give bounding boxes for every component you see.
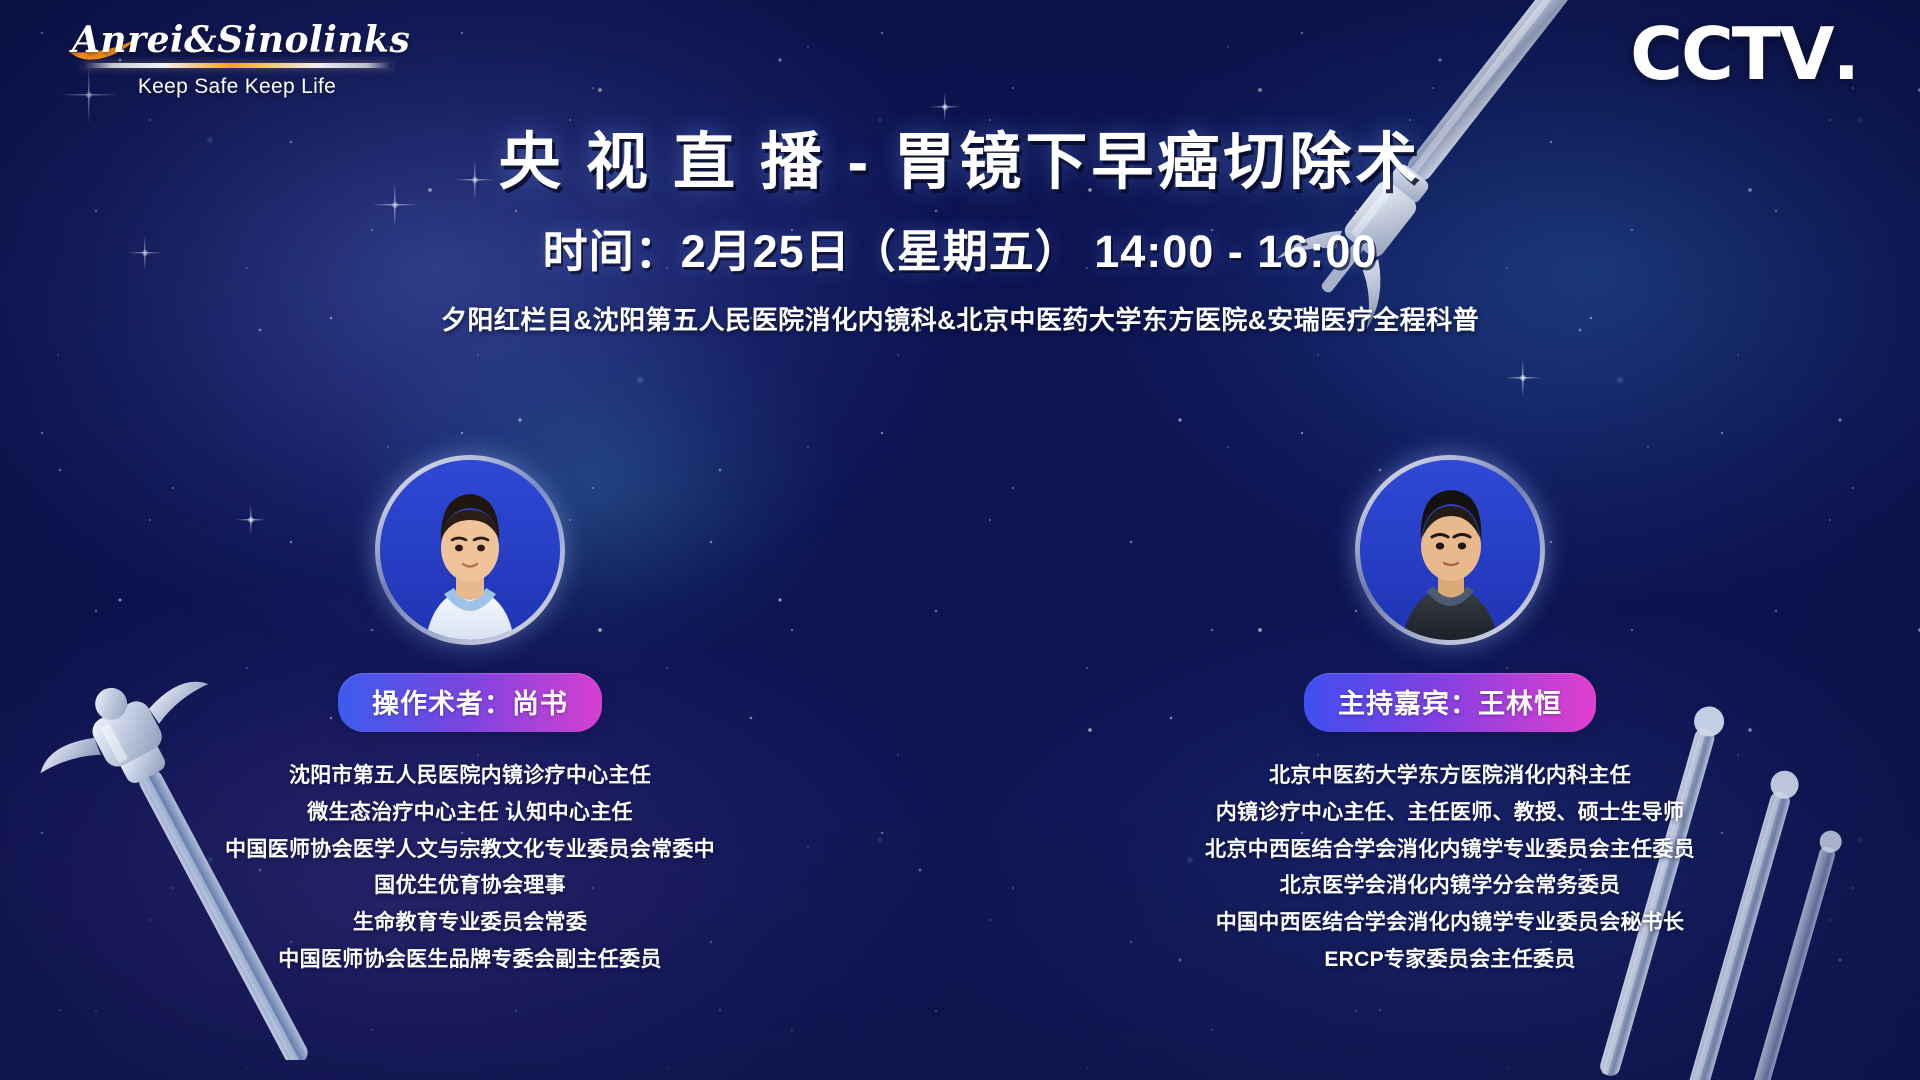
brand-name: Anrei&Sinolinks bbox=[72, 22, 402, 58]
credentials-list: 北京中医药大学东方医院消化内科主任 内镜诊疗中心主任、主任医师、教授、硕士生导师… bbox=[1205, 758, 1695, 979]
list-item: 中国医师协会医生品牌专委会副主任委员 bbox=[225, 942, 715, 979]
event-organizers: 夕阳红栏目&沈阳第五人民医院消化内镜科&北京中医药大学东方医院&安瑞医疗全程科普 bbox=[0, 300, 1920, 337]
page-title: 央 视 直 播 - 胃镜下早癌切除术 bbox=[0, 128, 1920, 197]
list-item: 中国中西医结合学会消化内镜学专业委员会秘书长 bbox=[1205, 905, 1695, 942]
avatar-ring bbox=[1355, 455, 1545, 645]
list-item: 内镜诊疗中心主任、主任医师、教授、硕士生导师 bbox=[1205, 795, 1695, 832]
list-item: ERCP专家委员会主任委员 bbox=[1205, 942, 1695, 979]
list-item: 生命教育专业委员会常委 bbox=[225, 905, 715, 942]
avatar bbox=[380, 460, 560, 640]
list-item: 微生态治疗中心主任 认知中心主任 bbox=[225, 795, 715, 832]
speaker-badge: 操作术者：尚书 bbox=[338, 673, 602, 732]
cctv-logo-dot: . bbox=[1833, 12, 1860, 96]
list-item: 北京医学会消化内镜学分会常务委员 bbox=[1205, 868, 1695, 905]
brand-tagline: Keep Safe Keep Life bbox=[72, 75, 402, 99]
list-item: 北京中医药大学东方医院消化内科主任 bbox=[1205, 758, 1695, 795]
cctv-logo-text: CCTV bbox=[1630, 12, 1833, 96]
list-item: 中国医师协会医学人文与宗教文化专业委员会常委中 bbox=[225, 832, 715, 869]
event-time: 时间：2月25日（星期五） 14:00 - 16:00 bbox=[0, 215, 1920, 280]
speaker-card-host: 主持嘉宾：王林恒 北京中医药大学东方医院消化内科主任 内镜诊疗中心主任、主任医师… bbox=[1200, 455, 1700, 979]
brand-logo: Anrei&Sinolinks Keep Safe Keep Life bbox=[72, 22, 402, 99]
speaker-card-operator: 操作术者：尚书 沈阳市第五人民医院内镜诊疗中心主任 微生态治疗中心主任 认知中心… bbox=[220, 455, 720, 979]
title-block: 央 视 直 播 - 胃镜下早癌切除术 时间：2月25日（星期五） 14:00 -… bbox=[0, 128, 1920, 337]
list-item: 国优生优育协会理事 bbox=[225, 868, 715, 905]
speakers-section: 操作术者：尚书 沈阳市第五人民医院内镜诊疗中心主任 微生态治疗中心主任 认知中心… bbox=[0, 455, 1920, 979]
list-item: 沈阳市第五人民医院内镜诊疗中心主任 bbox=[225, 758, 715, 795]
avatar-ring bbox=[375, 455, 565, 645]
cctv-logo: CCTV. bbox=[1630, 18, 1860, 90]
list-item: 北京中西医结合学会消化内镜学专业委员会主任委员 bbox=[1205, 832, 1695, 869]
poster-canvas: Anrei&Sinolinks Keep Safe Keep Life CCTV… bbox=[0, 0, 1920, 1080]
credentials-list: 沈阳市第五人民医院内镜诊疗中心主任 微生态治疗中心主任 认知中心主任 中国医师协… bbox=[225, 758, 715, 979]
avatar bbox=[1360, 460, 1540, 640]
speaker-badge: 主持嘉宾：王林恒 bbox=[1304, 673, 1596, 732]
